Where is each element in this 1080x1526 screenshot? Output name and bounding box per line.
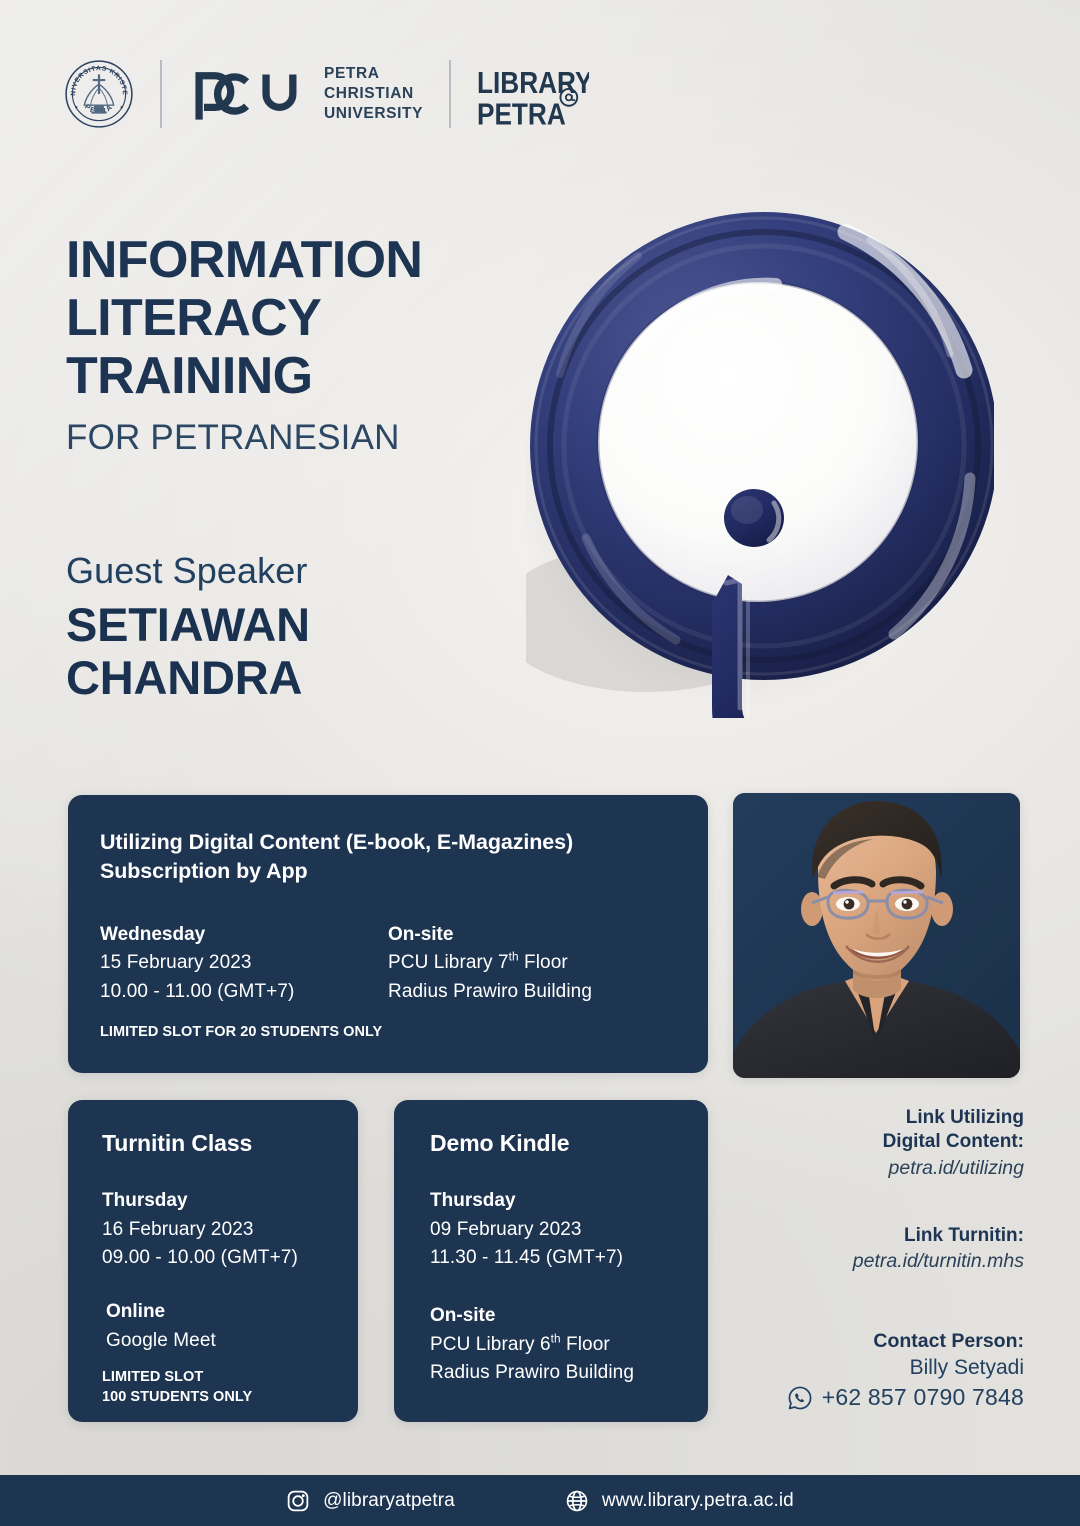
footer-website[interactable]: www.library.petra.ac.id — [565, 1489, 794, 1513]
session-title-line-1: Utilizing Digital Content (E-book, E-Mag… — [100, 828, 676, 857]
session-card-turnitin-class: Turnitin Class Thursday 16 February 2023… — [68, 1100, 358, 1422]
turnitin-venue: Google Meet — [106, 1327, 358, 1355]
logo-strip: UNIVERSITAS KRISTEN PETRA — [64, 52, 589, 136]
guest-speaker-label: Guest Speaker — [66, 550, 310, 592]
logo-divider-2 — [449, 60, 451, 128]
link-utilizing-digital-content[interactable]: Link Utilizing Digital Content: petra.id… — [764, 1106, 1024, 1182]
turnitin-limited-line-1: LIMITED SLOT — [102, 1367, 358, 1388]
contact-person-block: Contact Person: Billy Setyadi +62 857 07… — [724, 1328, 1024, 1411]
title-line-1: INFORMATION — [66, 232, 422, 290]
link-turnitin[interactable]: Link Turnitin: petra.id/turnitin.mhs — [764, 1224, 1024, 1276]
pcu-wordmark-line2: CHRISTIAN — [324, 84, 423, 104]
footer-instagram[interactable]: @libraryatpetra — [286, 1489, 455, 1513]
floor-ordinal-suffix: th — [509, 951, 519, 964]
turnitin-card-title: Turnitin Class — [102, 1130, 358, 1157]
contact-phone-row[interactable]: +62 857 0790 7848 — [724, 1384, 1024, 1411]
links-spacer — [764, 1182, 1024, 1224]
pcu-wordmark-line1: PETRA — [324, 64, 423, 84]
title-line-3: TRAINING — [66, 348, 422, 406]
globe-icon — [565, 1489, 589, 1513]
footer-instagram-handle[interactable]: @libraryatpetra — [323, 1490, 455, 1512]
page-title: INFORMATION LITERACY TRAINING FOR PETRAN… — [66, 232, 422, 458]
link-utilizing-label-line-2: Digital Content: — [764, 1130, 1024, 1154]
library-petra-logo: LIBRARY PETRA — [477, 59, 589, 129]
session-mode: On-site — [388, 921, 676, 950]
turnitin-limited-line-2: 100 STUDENTS ONLY — [102, 1387, 358, 1408]
kindle-card-title: Demo Kindle — [430, 1130, 708, 1157]
turnitin-time: 09.00 - 10.00 (GMT+7) — [102, 1244, 358, 1272]
pcu-wordmark-line3: UNIVERSITY — [324, 104, 423, 124]
contact-person-label: Contact Person: — [724, 1328, 1024, 1354]
footer-website-url[interactable]: www.library.petra.ac.id — [602, 1490, 794, 1512]
guest-speaker-name-line-2: CHANDRA — [66, 651, 310, 704]
contact-person-name: Billy Setyadi — [724, 1354, 1024, 1383]
instagram-icon — [286, 1489, 310, 1513]
link-turnitin-url[interactable]: petra.id/turnitin.mhs — [764, 1248, 1024, 1275]
session-time: 10.00 - 11.00 (GMT+7) — [100, 978, 388, 1006]
turnitin-day: Thursday — [102, 1187, 358, 1216]
contact-person-phone[interactable]: +62 857 0790 7848 — [822, 1384, 1024, 1411]
kindle-mode: On-site — [430, 1302, 708, 1331]
link-utilizing-label-line-1: Link Utilizing — [764, 1106, 1024, 1130]
guest-speaker-block: Guest Speaker SETIAWAN CHANDRA — [66, 550, 310, 704]
link-utilizing-url[interactable]: petra.id/utilizing — [764, 1155, 1024, 1182]
whatsapp-icon — [787, 1385, 813, 1411]
pcu-monogram-icon — [188, 66, 310, 122]
svg-text:UNIVERSITAS KRISTEN: UNIVERSITAS KRISTEN — [64, 59, 128, 96]
avatar — [733, 793, 1020, 1078]
svg-text:PETRA: PETRA — [477, 98, 566, 129]
footer-bar: @libraryatpetra www.library.petra.ac.id — [0, 1475, 1080, 1526]
pcu-wordmark: PETRA CHRISTIAN UNIVERSITY — [324, 64, 423, 123]
information-badge-icon — [526, 178, 994, 718]
links-column: Link Utilizing Digital Content: petra.id… — [764, 1106, 1024, 1276]
session-card-utilizing-digital-content: Utilizing Digital Content (E-book, E-Mag… — [68, 795, 708, 1073]
poster-canvas: UNIVERSITAS KRISTEN PETRA — [0, 0, 1080, 1526]
kindle-venue-line-1: PCU Library 6th Floor — [430, 1331, 708, 1359]
floor-ordinal-suffix: th — [551, 1332, 561, 1345]
session-title-line-2: Subscription by App — [100, 857, 676, 886]
turnitin-date: 16 February 2023 — [102, 1216, 358, 1244]
session-venue-line-1: PCU Library 7th Floor — [388, 949, 676, 977]
kindle-venue-line-2: Radius Prawiro Building — [430, 1359, 708, 1387]
link-turnitin-label: Link Turnitin: — [764, 1224, 1024, 1248]
title-subtitle: FOR PETRANESIAN — [66, 418, 422, 458]
session-date: 15 February 2023 — [100, 949, 388, 977]
kindle-day: Thursday — [430, 1187, 708, 1216]
session-where-column: On-site PCU Library 7th Floor Radius Pra… — [388, 921, 676, 1006]
petra-university-seal-icon: UNIVERSITAS KRISTEN PETRA — [64, 59, 134, 129]
turnitin-mode: Online — [106, 1298, 358, 1327]
logo-divider-1 — [160, 60, 162, 128]
session-day: Wednesday — [100, 921, 388, 950]
session-when-column: Wednesday 15 February 2023 10.00 - 11.00… — [100, 921, 388, 1006]
pcu-logo: PETRA CHRISTIAN UNIVERSITY — [188, 64, 423, 123]
session-limited-slot-note: LIMITED SLOT FOR 20 STUDENTS ONLY — [100, 1022, 382, 1043]
title-line-2: LITERACY — [66, 290, 422, 348]
session-venue-line-2: Radius Prawiro Building — [388, 978, 676, 1006]
kindle-time: 11.30 - 11.45 (GMT+7) — [430, 1244, 708, 1272]
session-card-demo-kindle: Demo Kindle Thursday 09 February 2023 11… — [394, 1100, 708, 1422]
kindle-date: 09 February 2023 — [430, 1216, 708, 1244]
guest-speaker-name-line-1: SETIAWAN — [66, 598, 310, 651]
